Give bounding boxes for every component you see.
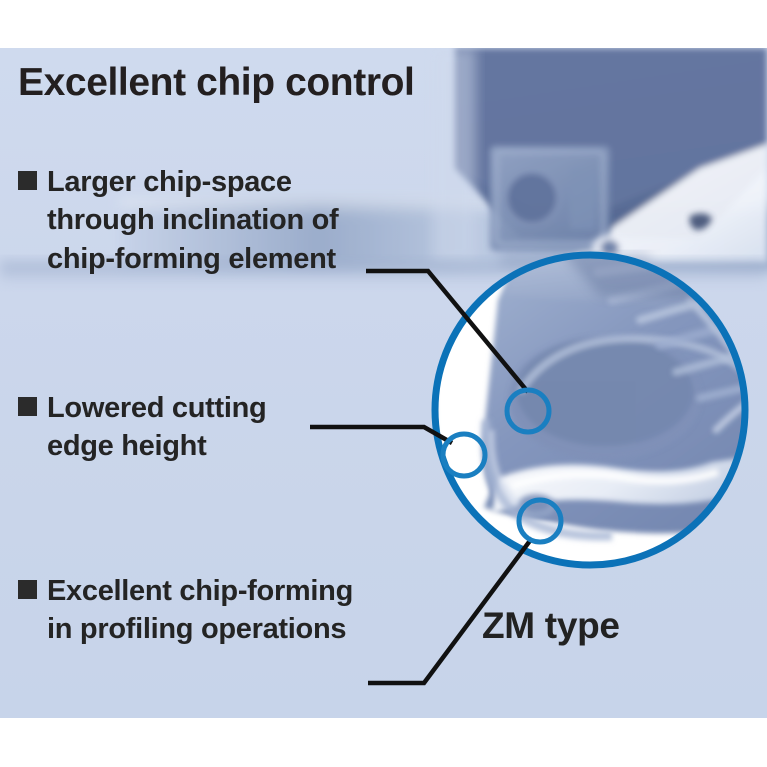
magnifier-caption: ZM type (482, 605, 620, 647)
bullet-square-icon (18, 397, 37, 416)
bullet-text: Larger chip-space through inclination of… (47, 163, 338, 278)
bullet-square-icon (18, 171, 37, 190)
page-title: Excellent chip control (18, 61, 414, 105)
bullet-text: Lowered cutting edge height (47, 389, 266, 466)
content-band: Excellent chip control Larger chip-space… (0, 48, 767, 718)
bullet-item-larger-chip-space: Larger chip-space through inclination of… (18, 163, 338, 278)
bullet-square-icon (18, 580, 37, 599)
bullet-item-lowered-cutting-edge-height: Lowered cutting edge height (18, 389, 266, 466)
bullet-item-excellent-chip-forming: Excellent chip-forming in profiling oper… (18, 572, 353, 649)
chip-control-figure: Excellent chip control Larger chip-space… (0, 0, 767, 767)
bullet-text: Excellent chip-forming in profiling oper… (47, 572, 353, 649)
